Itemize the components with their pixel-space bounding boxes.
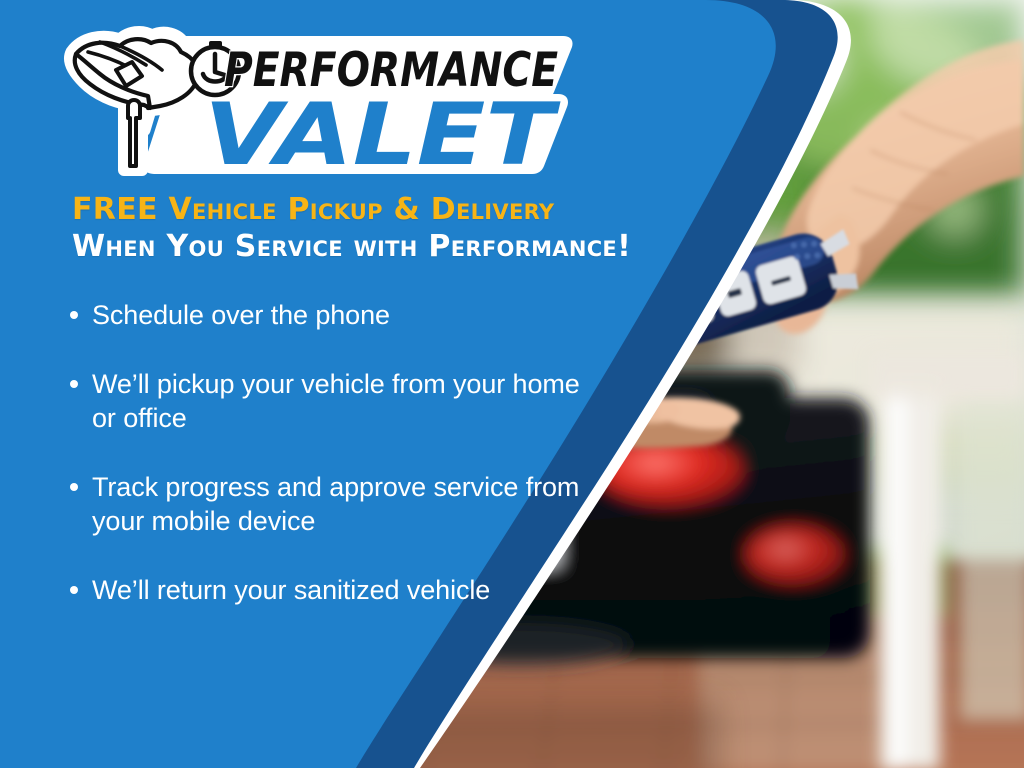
- headline-line-2: When You Service with Performance!: [72, 229, 692, 264]
- list-item: We’ll pickup your vehicle from your home…: [66, 367, 586, 436]
- list-item: Track progress and approve service from …: [66, 470, 586, 539]
- promotional-banner: PERFORMANCE VALET FREE Vehicle Pickup & …: [0, 0, 1024, 768]
- content-column: PERFORMANCE VALET FREE Vehicle Pickup & …: [0, 0, 700, 768]
- performance-valet-logo[interactable]: PERFORMANCE VALET: [58, 18, 578, 178]
- list-item-label: Track progress and approve service from …: [92, 470, 586, 539]
- headline-block: FREE Vehicle Pickup & Delivery When You …: [72, 192, 692, 265]
- list-item: Schedule over the phone: [66, 298, 586, 333]
- bullet-dot-icon: [70, 380, 78, 388]
- list-item-label: Schedule over the phone: [92, 298, 586, 333]
- list-item-label: We’ll pickup your vehicle from your home…: [92, 367, 586, 436]
- benefits-list: Schedule over the phone We’ll pickup you…: [66, 298, 586, 607]
- wordmark-valet: VALET: [204, 85, 561, 178]
- list-item-label: We’ll return your sanitized vehicle: [92, 573, 586, 608]
- logo-artwork: PERFORMANCE VALET: [58, 18, 578, 178]
- list-item: We’ll return your sanitized vehicle: [66, 573, 586, 608]
- bullet-dot-icon: [70, 586, 78, 594]
- headline-line-1: FREE Vehicle Pickup & Delivery: [72, 192, 692, 227]
- bullet-dot-icon: [70, 311, 78, 319]
- bullet-dot-icon: [70, 483, 78, 491]
